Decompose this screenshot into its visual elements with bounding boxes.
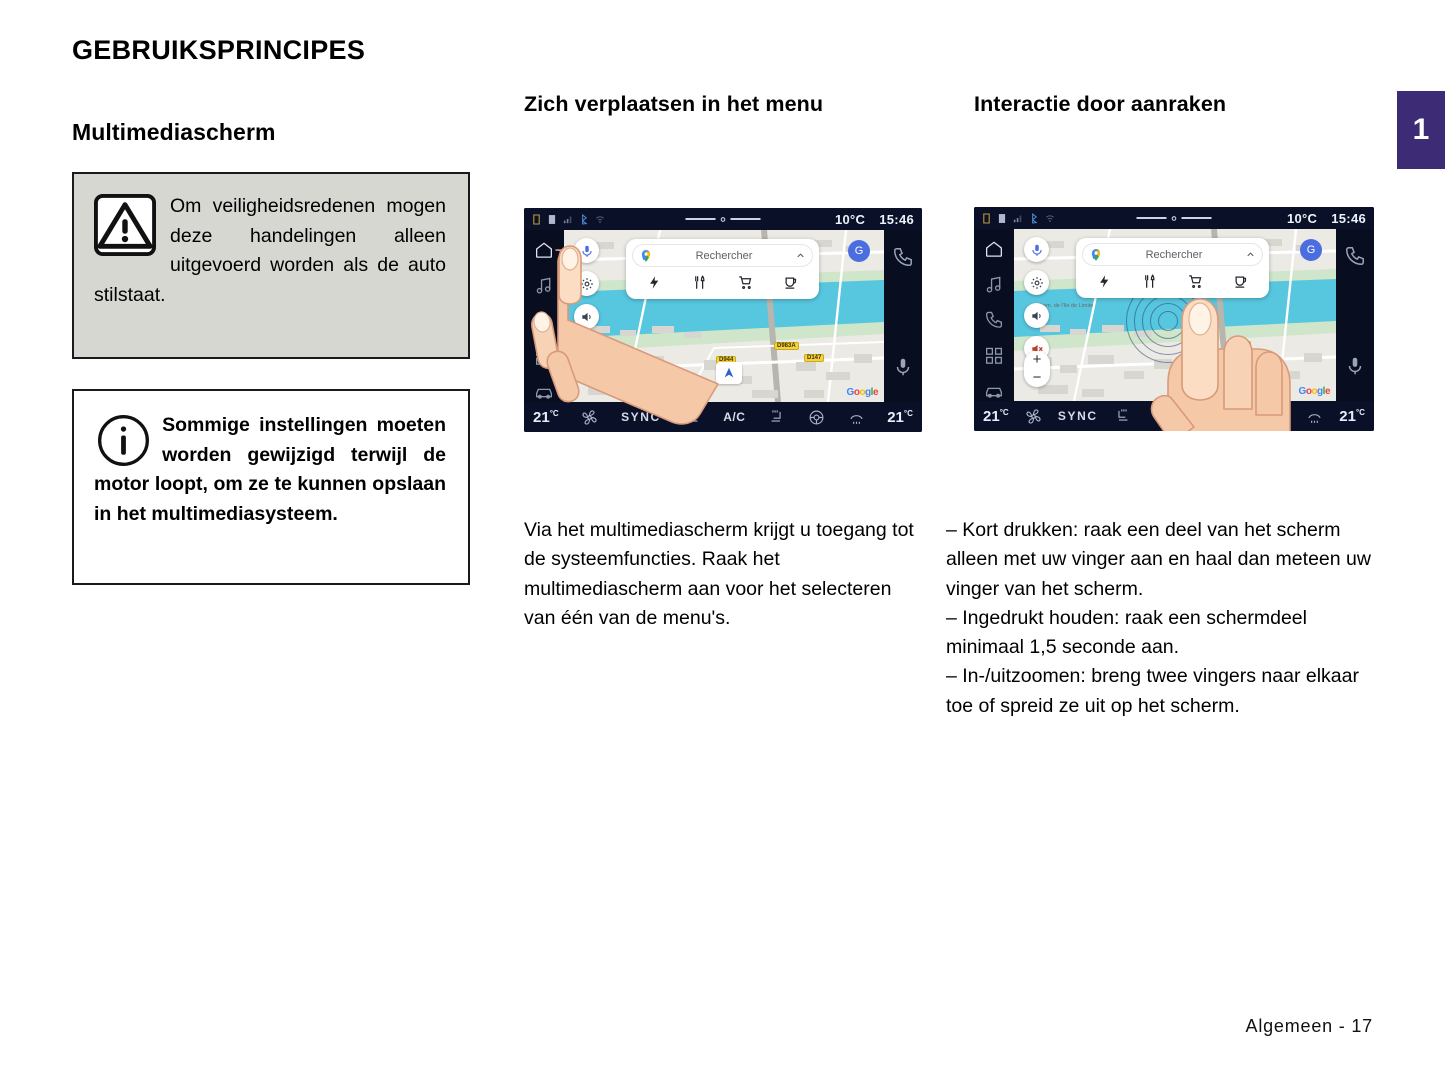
ivi-right-rail <box>884 230 922 402</box>
wifi-icon <box>1045 213 1055 223</box>
chapter-tab: 1 <box>1397 91 1445 169</box>
road-label: D983A <box>774 342 799 350</box>
map-search-card: Rechercher <box>1076 238 1269 298</box>
page-footer: Algemeen - 17 <box>1246 1016 1373 1037</box>
fan-icon[interactable] <box>581 409 598 426</box>
windscreen-defrost-icon[interactable] <box>848 409 865 426</box>
door-icon <box>548 214 556 225</box>
right-column-body: – Kort drukken: raak een deel van het sc… <box>946 516 1378 721</box>
charging-bolt-icon[interactable] <box>1097 274 1112 289</box>
account-avatar[interactable]: G <box>1300 239 1322 261</box>
steering-wheel-heater-icon[interactable] <box>1273 408 1290 425</box>
wifi-icon <box>595 214 605 224</box>
right-column-heading: Interactie door aanraken <box>974 92 1384 118</box>
right-column: Interactie door aanraken <box>974 92 1384 118</box>
section-title: Multimediascherm <box>72 120 472 145</box>
fan-icon[interactable] <box>1025 408 1042 425</box>
warning-triangle-icon <box>94 194 156 256</box>
zoom-in-button[interactable]: + <box>1033 355 1042 365</box>
ivi-status-bar: 10°C 15:46 <box>974 207 1374 229</box>
info-callout: Sommige instellingen moeten worden gewij… <box>72 389 470 585</box>
restaurant-icon[interactable] <box>692 275 707 290</box>
ivi-screen: 10°C 15:46 <box>974 207 1374 431</box>
restaurant-icon[interactable] <box>1142 274 1157 289</box>
status-right: 10°C 15:46 <box>1287 211 1366 226</box>
status-icons <box>982 213 1055 224</box>
road-label: D147 <box>1256 355 1276 363</box>
seatbelt-icon <box>532 214 541 225</box>
climate-bar: 21°C SYNC 21°C <box>974 401 1374 431</box>
account-avatar[interactable]: G <box>848 240 870 262</box>
microphone-icon <box>1030 243 1044 257</box>
passenger-temperature[interactable]: 21°C <box>887 409 913 426</box>
left-column: GEBRUIKSPRINCIPES Multimediascherm <box>72 36 472 145</box>
music-icon[interactable] <box>533 276 555 296</box>
zoom-out-button[interactable]: − <box>1033 373 1042 383</box>
seat-heater-left-icon[interactable] <box>684 409 701 426</box>
gear-icon <box>580 277 594 291</box>
music-icon[interactable] <box>983 275 1005 295</box>
status-right: 10°C 15:46 <box>835 212 914 227</box>
map-action-buttons <box>574 238 599 329</box>
door-icon <box>998 213 1006 224</box>
middle-column: Zich verplaatsen in het menu <box>524 92 924 118</box>
clock: 15:46 <box>879 212 914 227</box>
outside-temperature: 10°C <box>1287 211 1317 226</box>
screen-brightness-indicator <box>1137 214 1212 223</box>
apps-grid-icon[interactable] <box>983 346 1005 366</box>
navigation-position-marker <box>716 362 742 384</box>
ivi-screen: 10°C 15:46 <box>524 208 922 432</box>
cafe-icon[interactable] <box>1233 274 1248 289</box>
nav-arrow-icon <box>722 366 736 380</box>
home-icon[interactable] <box>983 239 1005 259</box>
bluetooth-icon <box>1030 213 1038 224</box>
chapter-number: 1 <box>1413 115 1430 145</box>
warning-callout: Om veiligheidsredenen mogen deze handeli… <box>72 172 470 359</box>
sync-button[interactable]: SYNC <box>1058 409 1098 423</box>
windscreen-defrost-icon[interactable] <box>1306 408 1323 425</box>
speaker-icon <box>1030 309 1044 323</box>
cafe-icon[interactable] <box>783 275 798 290</box>
gear-icon <box>1030 276 1044 290</box>
home-icon[interactable] <box>533 240 555 260</box>
signal-icon <box>563 214 573 224</box>
search-placeholder: Rechercher <box>659 250 789 262</box>
map-settings-button[interactable] <box>1024 270 1049 295</box>
search-quick-filters <box>1082 268 1263 294</box>
status-icons <box>532 214 605 225</box>
clock: 15:46 <box>1331 211 1366 226</box>
map-search-card: Rechercher <box>626 239 819 299</box>
ivi-left-rail <box>524 230 564 402</box>
sync-button[interactable]: SYNC <box>621 410 661 424</box>
manual-page: 1 GEBRUIKSPRINCIPES Multimediascherm Om … <box>0 0 1445 1070</box>
map-volume-button[interactable] <box>1024 303 1049 328</box>
ivi-status-bar: 10°C 15:46 <box>524 208 922 230</box>
shopping-cart-icon[interactable] <box>738 275 753 290</box>
seat-heater-left-icon[interactable] <box>1114 408 1131 425</box>
signal-icon <box>1013 213 1023 223</box>
apps-grid-icon[interactable] <box>533 347 555 367</box>
map-view[interactable]: Chem. de l'Ile de Limite D906 D983A D147 <box>1014 229 1336 401</box>
microphone-icon[interactable] <box>892 356 914 378</box>
page-title: GEBRUIKSPRINCIPES <box>72 36 472 66</box>
voice-search-button[interactable] <box>574 238 599 263</box>
phone-icon[interactable] <box>983 310 1005 330</box>
speaker-icon <box>580 310 594 324</box>
map-settings-button[interactable] <box>574 271 599 296</box>
search-quick-filters <box>632 269 813 295</box>
seat-heater-right-icon[interactable] <box>768 409 785 426</box>
search-input[interactable]: Rechercher <box>1082 243 1263 266</box>
passenger-temperature[interactable]: 21°C <box>1339 408 1365 425</box>
google-watermark: Google <box>1299 386 1330 397</box>
ac-button[interactable]: A/C <box>723 410 745 424</box>
map-zoom-controls: + − <box>1024 351 1050 387</box>
ivi-right-rail <box>1336 229 1374 401</box>
microphone-icon[interactable] <box>1344 355 1366 377</box>
search-input[interactable]: Rechercher <box>632 244 813 267</box>
driver-temperature[interactable]: 21°C <box>983 408 1009 425</box>
ivi-left-rail <box>974 229 1014 401</box>
chevron-up-icon[interactable] <box>795 250 806 261</box>
chevron-up-icon[interactable] <box>1245 249 1256 260</box>
map-volume-button[interactable] <box>574 304 599 329</box>
seatbelt-icon <box>982 213 991 224</box>
climate-bar: 21°C SYNC A/C 21°C <box>524 402 922 432</box>
map-action-buttons <box>1024 237 1049 361</box>
outside-temperature: 10°C <box>835 212 865 227</box>
voice-search-button[interactable] <box>1024 237 1049 262</box>
map-view[interactable]: D906 D983A D147 D944 <box>564 230 884 402</box>
car-icon[interactable] <box>533 382 555 402</box>
middle-column-body: Via het multimediascherm krijgt u toegan… <box>524 516 914 633</box>
road-label: D147 <box>804 354 824 362</box>
info-circle-icon <box>96 413 151 468</box>
map-pin-icon <box>1089 248 1103 262</box>
driver-temperature[interactable]: 21°C <box>533 409 559 426</box>
middle-column-heading: Zich verplaatsen in het menu <box>524 92 924 118</box>
phone-icon[interactable] <box>892 246 914 268</box>
charging-bolt-icon[interactable] <box>647 275 662 290</box>
ivi-body: Chem. de l'Ile de Limite D906 D983A D147 <box>974 229 1374 401</box>
car-icon[interactable] <box>983 381 1005 401</box>
steering-wheel-heater-icon[interactable] <box>808 409 825 426</box>
bluetooth-icon <box>580 214 588 225</box>
map-pin-icon <box>639 249 653 263</box>
figure-navigate-menu: 10°C 15:46 <box>524 208 922 432</box>
screen-brightness-indicator <box>686 215 761 224</box>
figure-touch-interaction: 10°C 15:46 <box>974 207 1374 431</box>
search-placeholder: Rechercher <box>1109 249 1239 261</box>
shopping-cart-icon[interactable] <box>1188 274 1203 289</box>
phone-icon[interactable] <box>1344 245 1366 267</box>
google-watermark: Google <box>847 387 878 398</box>
microphone-icon <box>580 244 594 258</box>
road-label: D983A <box>1226 341 1251 349</box>
ivi-body: D906 D983A D147 D944 <box>524 230 922 402</box>
phone-icon[interactable] <box>533 311 555 331</box>
